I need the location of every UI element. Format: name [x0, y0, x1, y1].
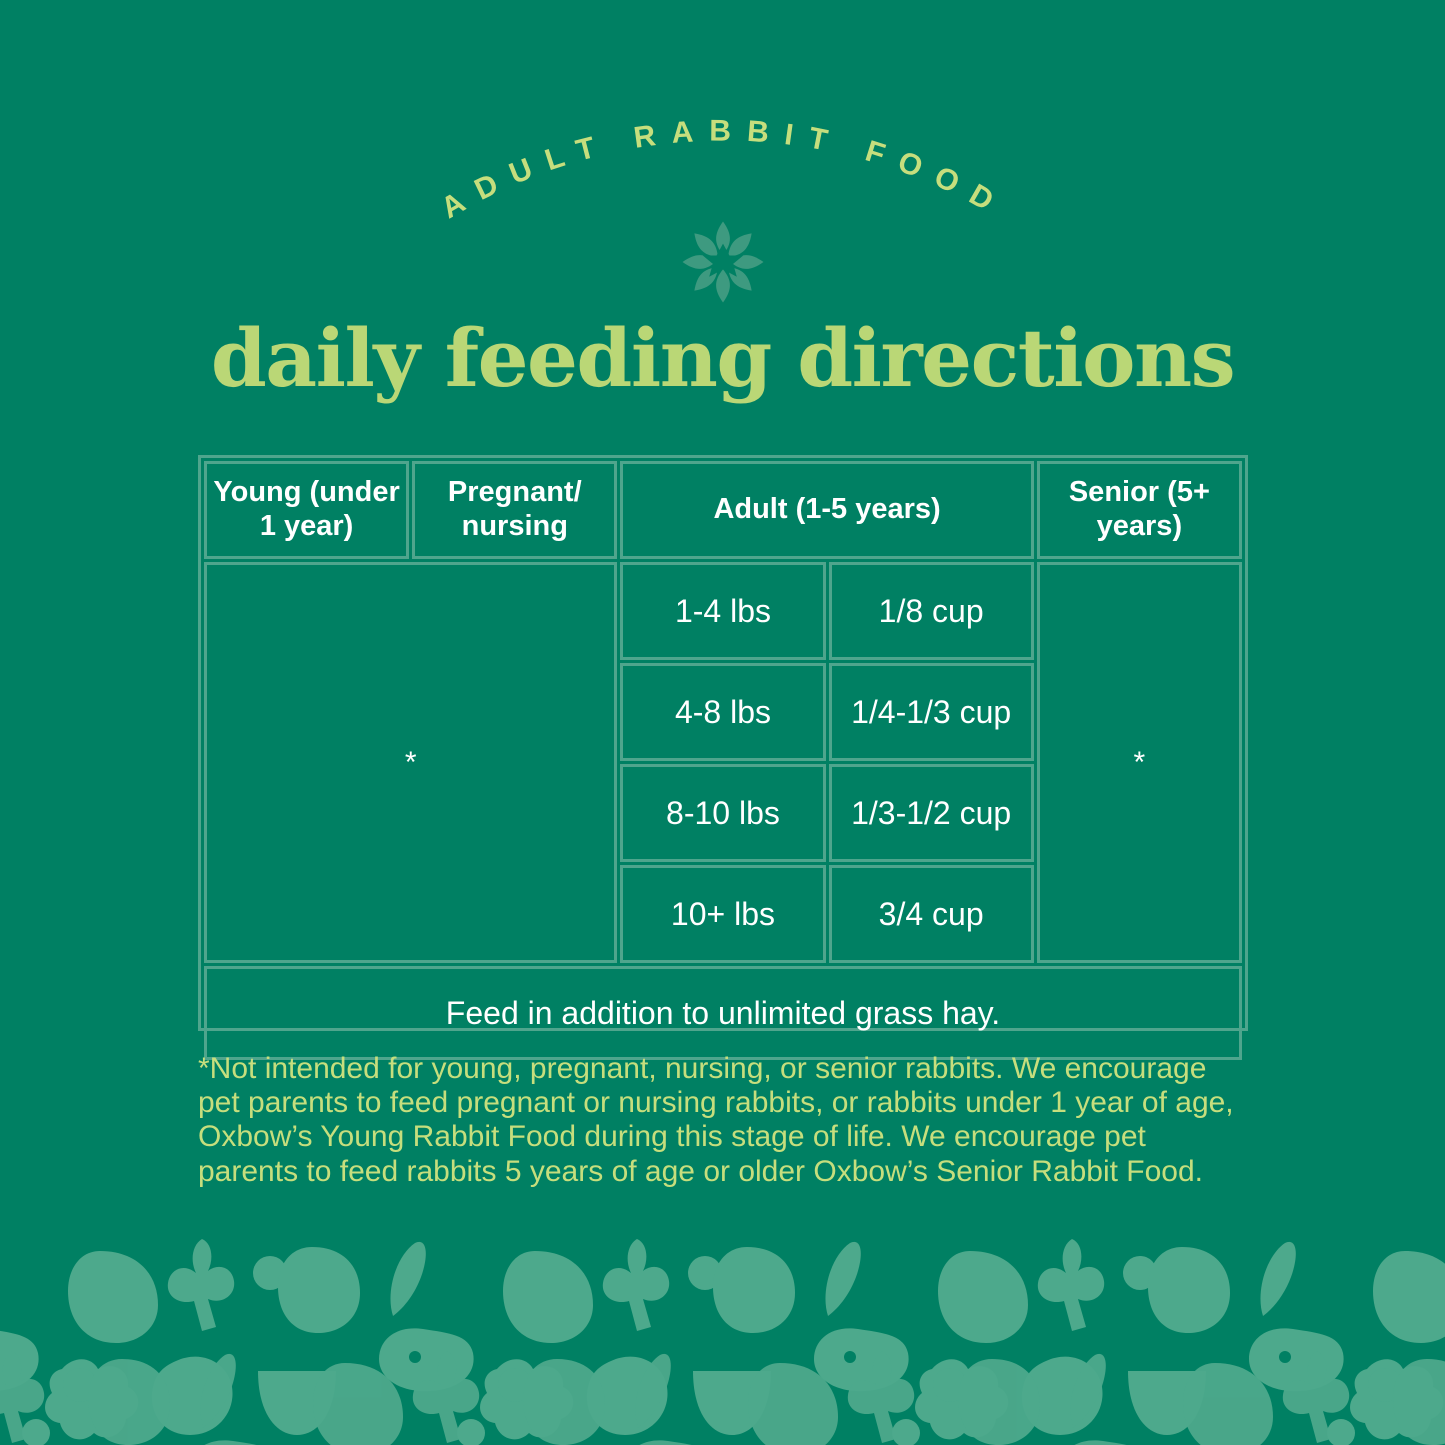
- eyebrow-textpath: ADULT RABBIT FOOD: [436, 114, 1013, 225]
- header-pregnant-line1: Pregnant/: [448, 476, 582, 508]
- cell-adult-weight-4: 10+ lbs: [620, 865, 825, 963]
- cell-adult-amount-1: 1/8 cup: [829, 562, 1034, 660]
- cell-adult-weight-2: 4-8 lbs: [620, 663, 825, 761]
- header-senior-line1: Senior: [1069, 476, 1159, 508]
- cell-adult-amount-3: 1/3-1/2 cup: [829, 764, 1034, 862]
- footnote-text: *Not intended for young, pregnant, nursi…: [198, 1052, 1250, 1189]
- cell-adult-amount-2: 1/4-1/3 cup: [829, 663, 1034, 761]
- eyebrow-text: ADULT RABBIT FOOD: [436, 114, 1013, 225]
- header-pregnant: Pregnant/ nursing: [412, 461, 617, 559]
- cell-adult-weight-1: 1-4 lbs: [620, 562, 825, 660]
- header-young: Young (under 1 year): [204, 461, 409, 559]
- cell-footer-note: Feed in addition to unlimited grass hay.: [204, 966, 1242, 1060]
- bottom-decorative-band: [0, 1213, 1445, 1445]
- table-footer-row: Feed in addition to unlimited grass hay.: [204, 966, 1242, 1060]
- table-header-row: Young (under 1 year) Pregnant/ nursing A…: [204, 461, 1242, 559]
- table: Young (under 1 year) Pregnant/ nursing A…: [201, 458, 1245, 1063]
- cell-young-pregnant-value: *: [204, 562, 617, 963]
- feeding-directions-table: Young (under 1 year) Pregnant/ nursing A…: [198, 455, 1248, 1031]
- header-young-line1: Young: [213, 476, 301, 508]
- band-pattern-svg: [0, 1213, 1445, 1445]
- cell-adult-weight-3: 8-10 lbs: [620, 764, 825, 862]
- header-adult-line1: Adult: [713, 493, 787, 525]
- header-senior: Senior (5+ years): [1037, 461, 1242, 559]
- header-adult: Adult (1-5 years): [620, 461, 1033, 559]
- header-adult-line2: (1-5 years): [796, 493, 941, 525]
- page-title: daily feeding directions: [0, 318, 1445, 398]
- table-row: * 1-4 lbs 1/8 cup *: [204, 562, 1242, 660]
- rosette-svg: [677, 216, 769, 308]
- cell-senior-value: *: [1037, 562, 1242, 963]
- rosette-flower-icon: [677, 216, 769, 308]
- cell-adult-amount-4: 3/4 cup: [829, 865, 1034, 963]
- header-pregnant-line2: nursing: [462, 510, 568, 542]
